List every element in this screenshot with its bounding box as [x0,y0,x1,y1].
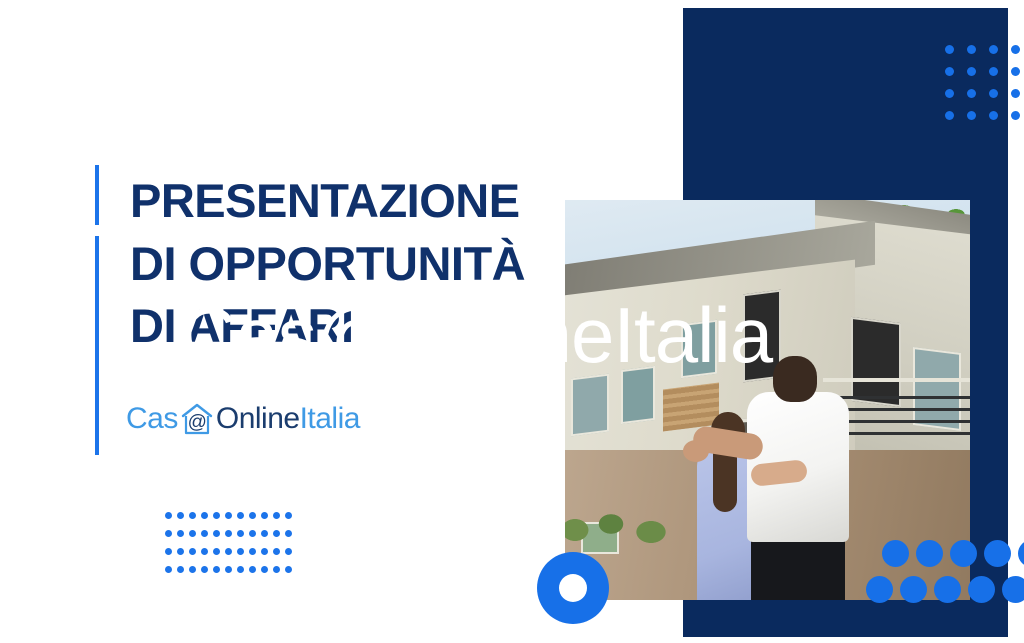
dot [201,512,208,519]
dot [1002,576,1024,603]
dot [945,111,954,120]
dot [984,540,1011,567]
dot [882,540,909,567]
dot [189,548,196,555]
photo-man-legs [751,532,845,600]
dot [201,530,208,537]
dot [177,548,184,555]
dot [213,530,220,537]
accent-bar-top [95,165,99,225]
dot [945,67,954,76]
dot [273,530,280,537]
dot [213,512,220,519]
dot [237,512,244,519]
dot [950,540,977,567]
logo-text-online: Online [216,404,300,434]
photo-man-head [773,356,817,402]
dot [273,566,280,573]
dot [237,530,244,537]
dot [285,530,292,537]
dot [261,512,268,519]
dot [1018,540,1024,567]
dot [177,566,184,573]
dot [945,45,954,54]
dot [249,530,256,537]
dot [177,512,184,519]
dot [261,566,268,573]
dot [237,548,244,555]
dot [989,45,998,54]
dot [249,548,256,555]
dot [165,566,172,573]
dot [989,67,998,76]
dot [900,576,927,603]
dot [225,548,232,555]
dot [285,548,292,555]
dot [261,548,268,555]
photo-window [571,374,609,437]
dot [1011,45,1020,54]
dot [916,540,943,567]
dot [934,576,961,603]
dot [273,512,280,519]
dot [213,548,220,555]
dot-grid-top-right [945,45,1023,133]
dot [201,566,208,573]
dot [968,576,995,603]
dot [201,548,208,555]
photo-man-hand [683,440,709,462]
dot [1011,111,1020,120]
dot [189,512,196,519]
dot [225,512,232,519]
dot [273,548,280,555]
dot [213,566,220,573]
dot [967,45,976,54]
dot-grid-bottom-right [882,540,1024,612]
accent-bar-bottom [95,236,99,455]
dot [989,89,998,98]
dot [165,530,172,537]
dot [177,530,184,537]
ring-decoration [537,552,609,624]
dot [249,512,256,519]
presentation-slide: PRESENTAZIONE DI OPPORTUNITÀ DI AFFARI [0,0,1024,643]
logo-text-cas: Cas [126,404,178,434]
dot [165,548,172,555]
dot [189,566,196,573]
dot [249,566,256,573]
dot [967,67,976,76]
dot [165,512,172,519]
svg-text:@: @ [187,412,206,433]
brand-logo[interactable]: Cas @ Online Italia [126,402,360,436]
photo-brick-panel [663,383,719,432]
dot [945,89,954,98]
dot [285,512,292,519]
dot [1011,89,1020,98]
dot [237,566,244,573]
dot [967,89,976,98]
dot [225,530,232,537]
house-at-icon: @ [179,402,215,436]
photo-shrub [565,500,689,546]
wordmark-overlay: Cas@OnlineItalia [180,296,772,374]
dot [967,111,976,120]
dot [189,530,196,537]
dot [1011,67,1020,76]
dot-grid-bottom-left [165,512,297,584]
dot [989,111,998,120]
logo-text-italia: Italia [300,404,360,434]
dot [261,530,268,537]
dot [866,576,893,603]
dot [225,566,232,573]
dot [285,566,292,573]
